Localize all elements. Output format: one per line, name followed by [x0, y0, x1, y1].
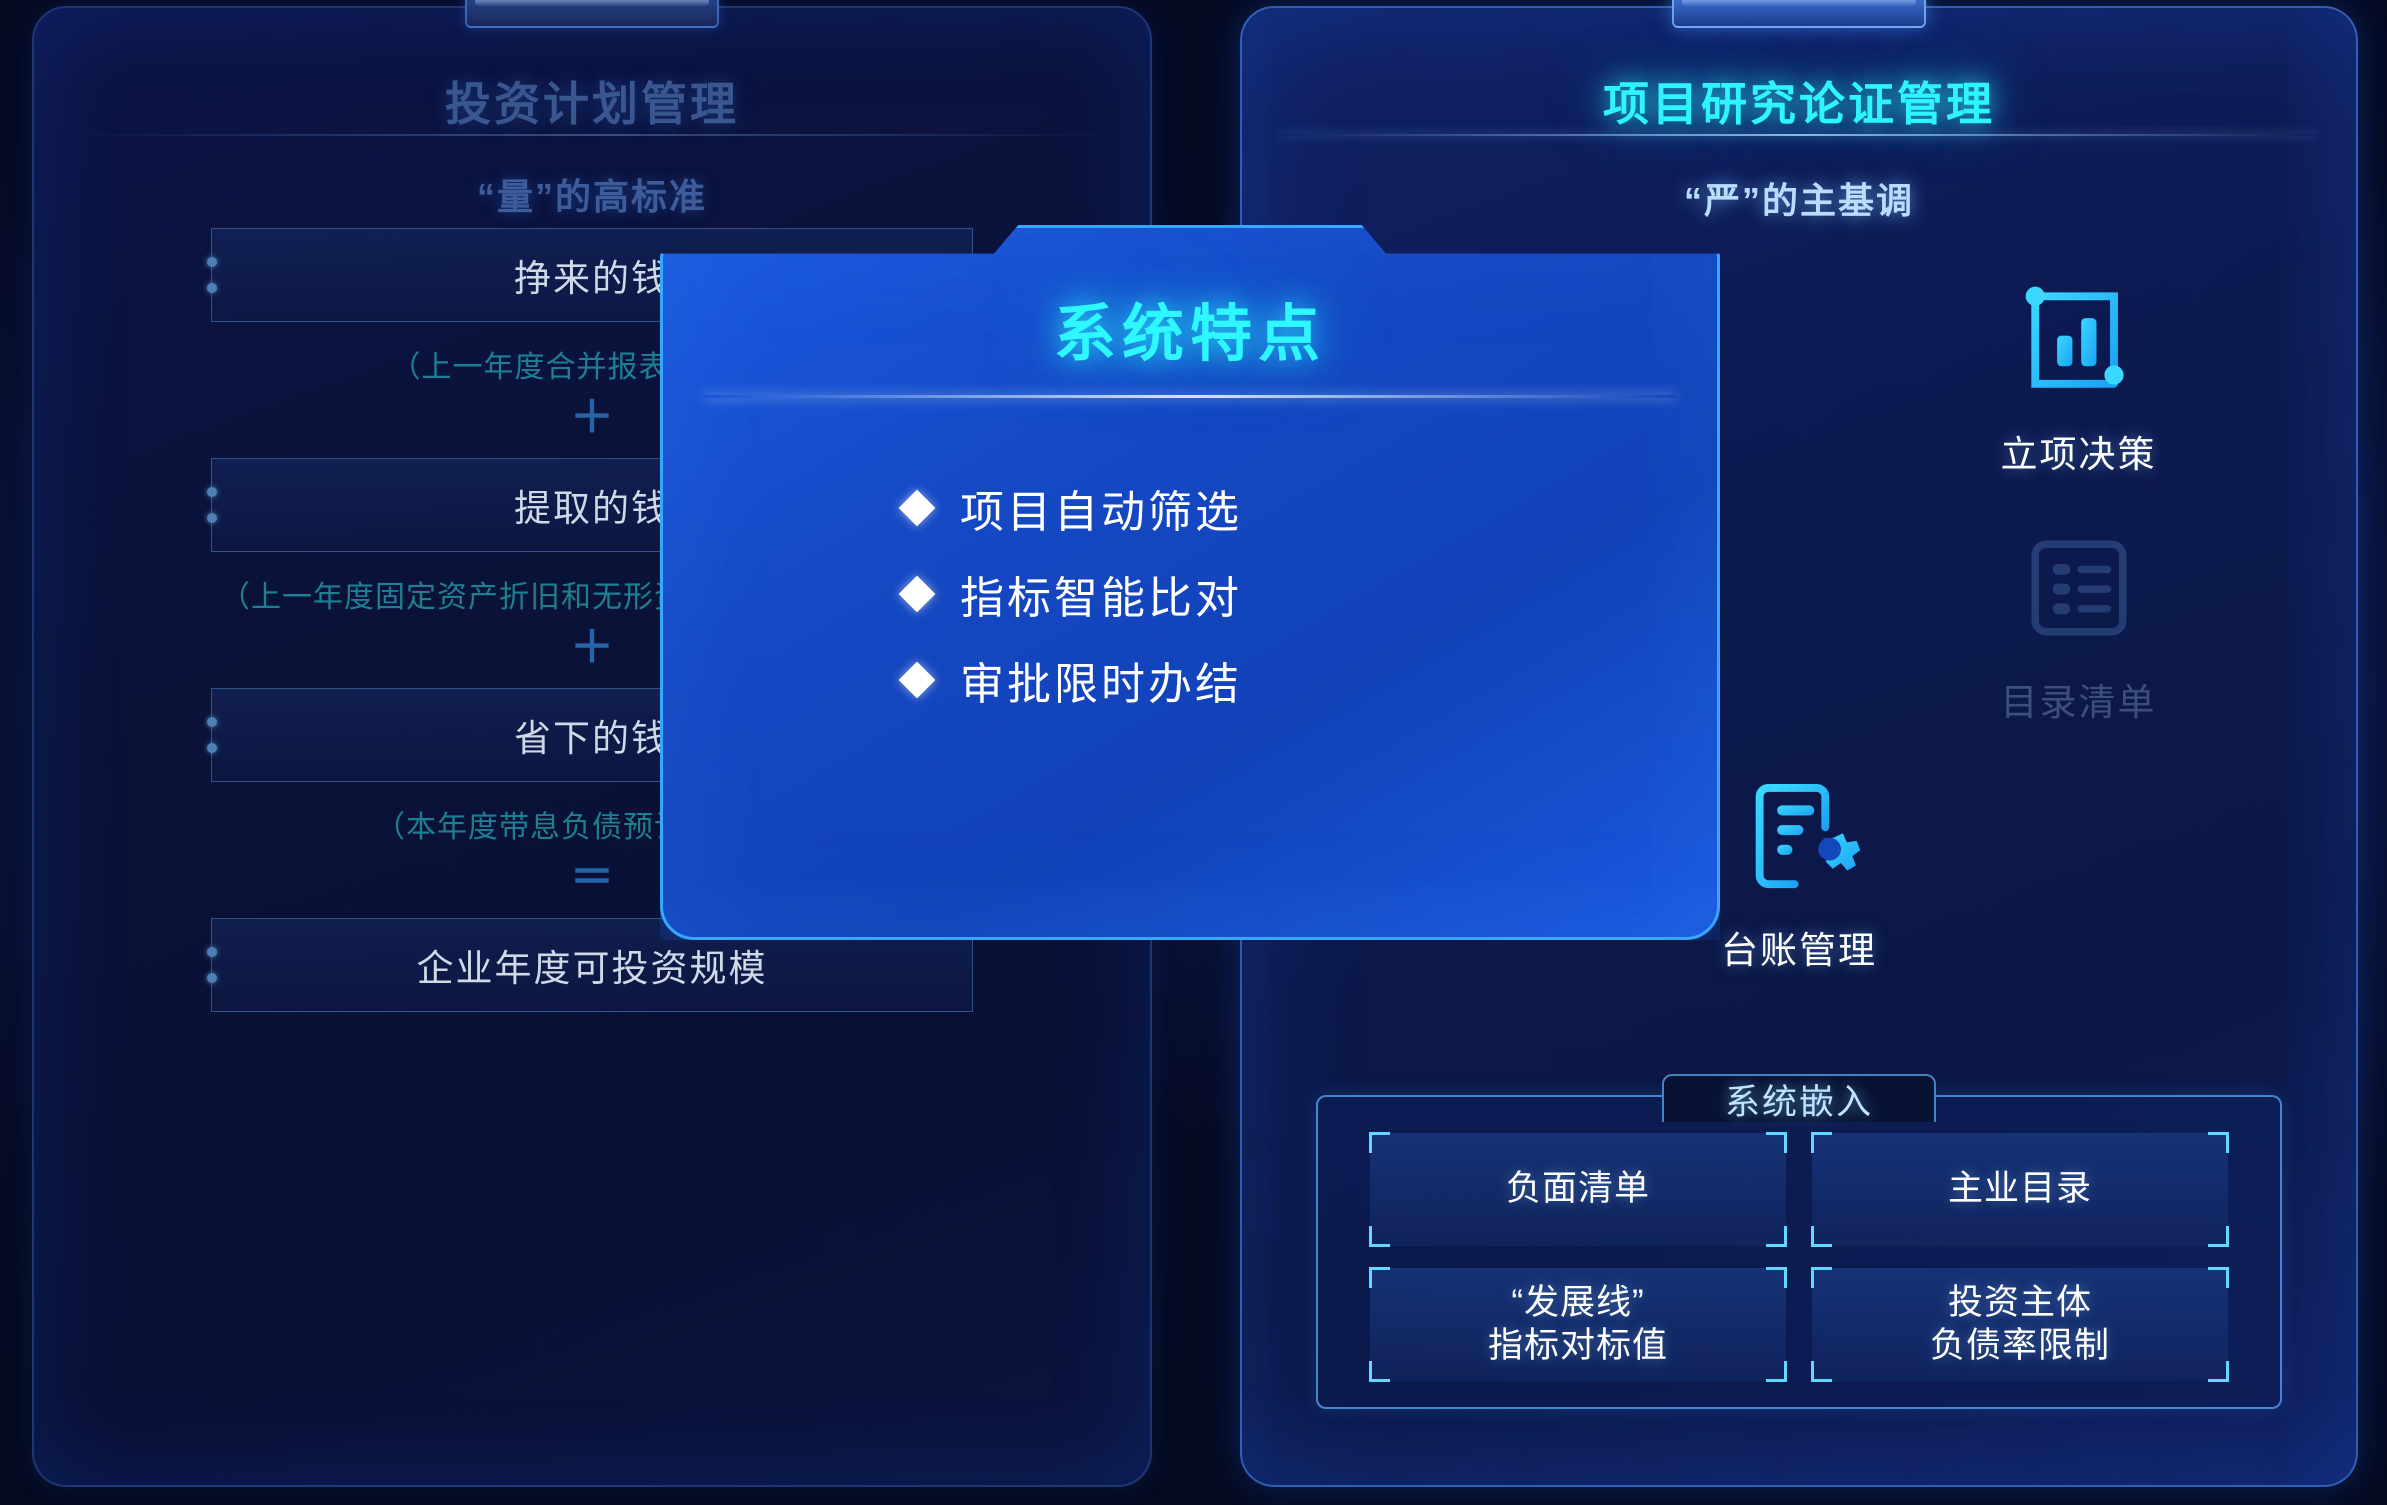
embed-cell-development-line[interactable]: “发展线” 指标对标值 [1370, 1268, 1786, 1381]
embed-cell-main-business-catalog[interactable]: 主业目录 [1812, 1133, 2228, 1246]
system-embed-box: 系统嵌入 负面清单 主业目录 “发展线” 指标对标值 投资主体 [1316, 1095, 2282, 1409]
system-features-list: 项目自动筛选 指标智能比对 审批限时办结 [660, 465, 1720, 723]
chain-box-label: 省下的钱 [514, 708, 670, 762]
module-label: 目录清单 [2001, 672, 2157, 726]
checklist-icon [2009, 518, 2149, 658]
feature-item-label: 审批限时办结 [960, 648, 1242, 712]
diamond-bullet-icon [899, 662, 936, 699]
embed-cell-negative-list[interactable]: 负面清单 [1370, 1133, 1786, 1246]
feature-item-label: 项目自动筛选 [960, 476, 1242, 540]
diamond-bullet-icon [899, 576, 936, 613]
system-features-divider [704, 395, 1676, 398]
connector-dot-icon [207, 487, 217, 497]
connector-dot-icon [207, 743, 217, 753]
feature-item[interactable]: 指标智能比对 [660, 551, 1720, 637]
embed-cell-line1: “发展线” [1511, 1283, 1644, 1322]
right-panel-title: 项目研究论证管理 [1240, 68, 2358, 134]
chain-box-label: 企业年度可投资规模 [417, 938, 768, 992]
embed-cell-line2: 指标对标值 [1488, 1326, 1668, 1365]
left-panel-divider [72, 134, 1112, 136]
feature-item[interactable]: 审批限时办结 [660, 637, 1720, 723]
chain-box-label: 挣来的钱 [514, 248, 670, 302]
connector-dot-icon [207, 283, 217, 293]
right-panel-divider [1280, 134, 2318, 136]
left-panel-notch [465, 0, 719, 28]
connector-dot-icon [207, 717, 217, 727]
system-embed-grid: 负面清单 主业目录 “发展线” 指标对标值 投资主体 负债率限制 [1370, 1133, 2228, 1381]
connector-dot-icon [207, 947, 217, 957]
system-embed-tab: 系统嵌入 [1662, 1074, 1936, 1122]
chain-box-label: 提取的钱 [514, 478, 670, 532]
system-embed-label: 系统嵌入 [1725, 1074, 1873, 1125]
embed-cell-line2: 负债率限制 [1930, 1326, 2110, 1365]
document-gear-icon [1729, 766, 1869, 906]
right-panel-subtitle: “严”的主基调 [1240, 172, 2358, 224]
module-label: 立项决策 [2001, 424, 2157, 478]
diamond-bullet-icon [899, 490, 936, 527]
connector-dot-icon [207, 513, 217, 523]
bar-chart-frame-icon [2009, 270, 2149, 410]
module-label: 台账管理 [1721, 920, 1877, 974]
embed-cell-investor-debt-limit[interactable]: 投资主体 负债率限制 [1812, 1268, 2228, 1381]
embed-cell-line1: 投资主体 [1948, 1283, 2092, 1322]
connector-dot-icon [207, 257, 217, 267]
left-panel-title: 投资计划管理 [32, 68, 1152, 134]
module-project-approval[interactable]: 立项决策 [1799, 256, 2358, 504]
left-panel-subtitle: “量”的高标准 [32, 168, 1152, 220]
connector-dot-icon [207, 973, 217, 983]
embed-cell-line1: 负面清单 [1506, 1169, 1650, 1208]
module-catalog-list[interactable]: 目录清单 [1799, 504, 2358, 752]
feature-item-label: 指标智能比对 [960, 562, 1242, 626]
system-features-title: 系统特点 [660, 283, 1720, 373]
right-panel-notch [1672, 0, 1926, 28]
system-features-card: 系统特点 项目自动筛选 指标智能比对 审批限时办结 [660, 225, 1720, 940]
embed-cell-line1: 主业目录 [1948, 1169, 2092, 1208]
feature-item[interactable]: 项目自动筛选 [660, 465, 1720, 551]
